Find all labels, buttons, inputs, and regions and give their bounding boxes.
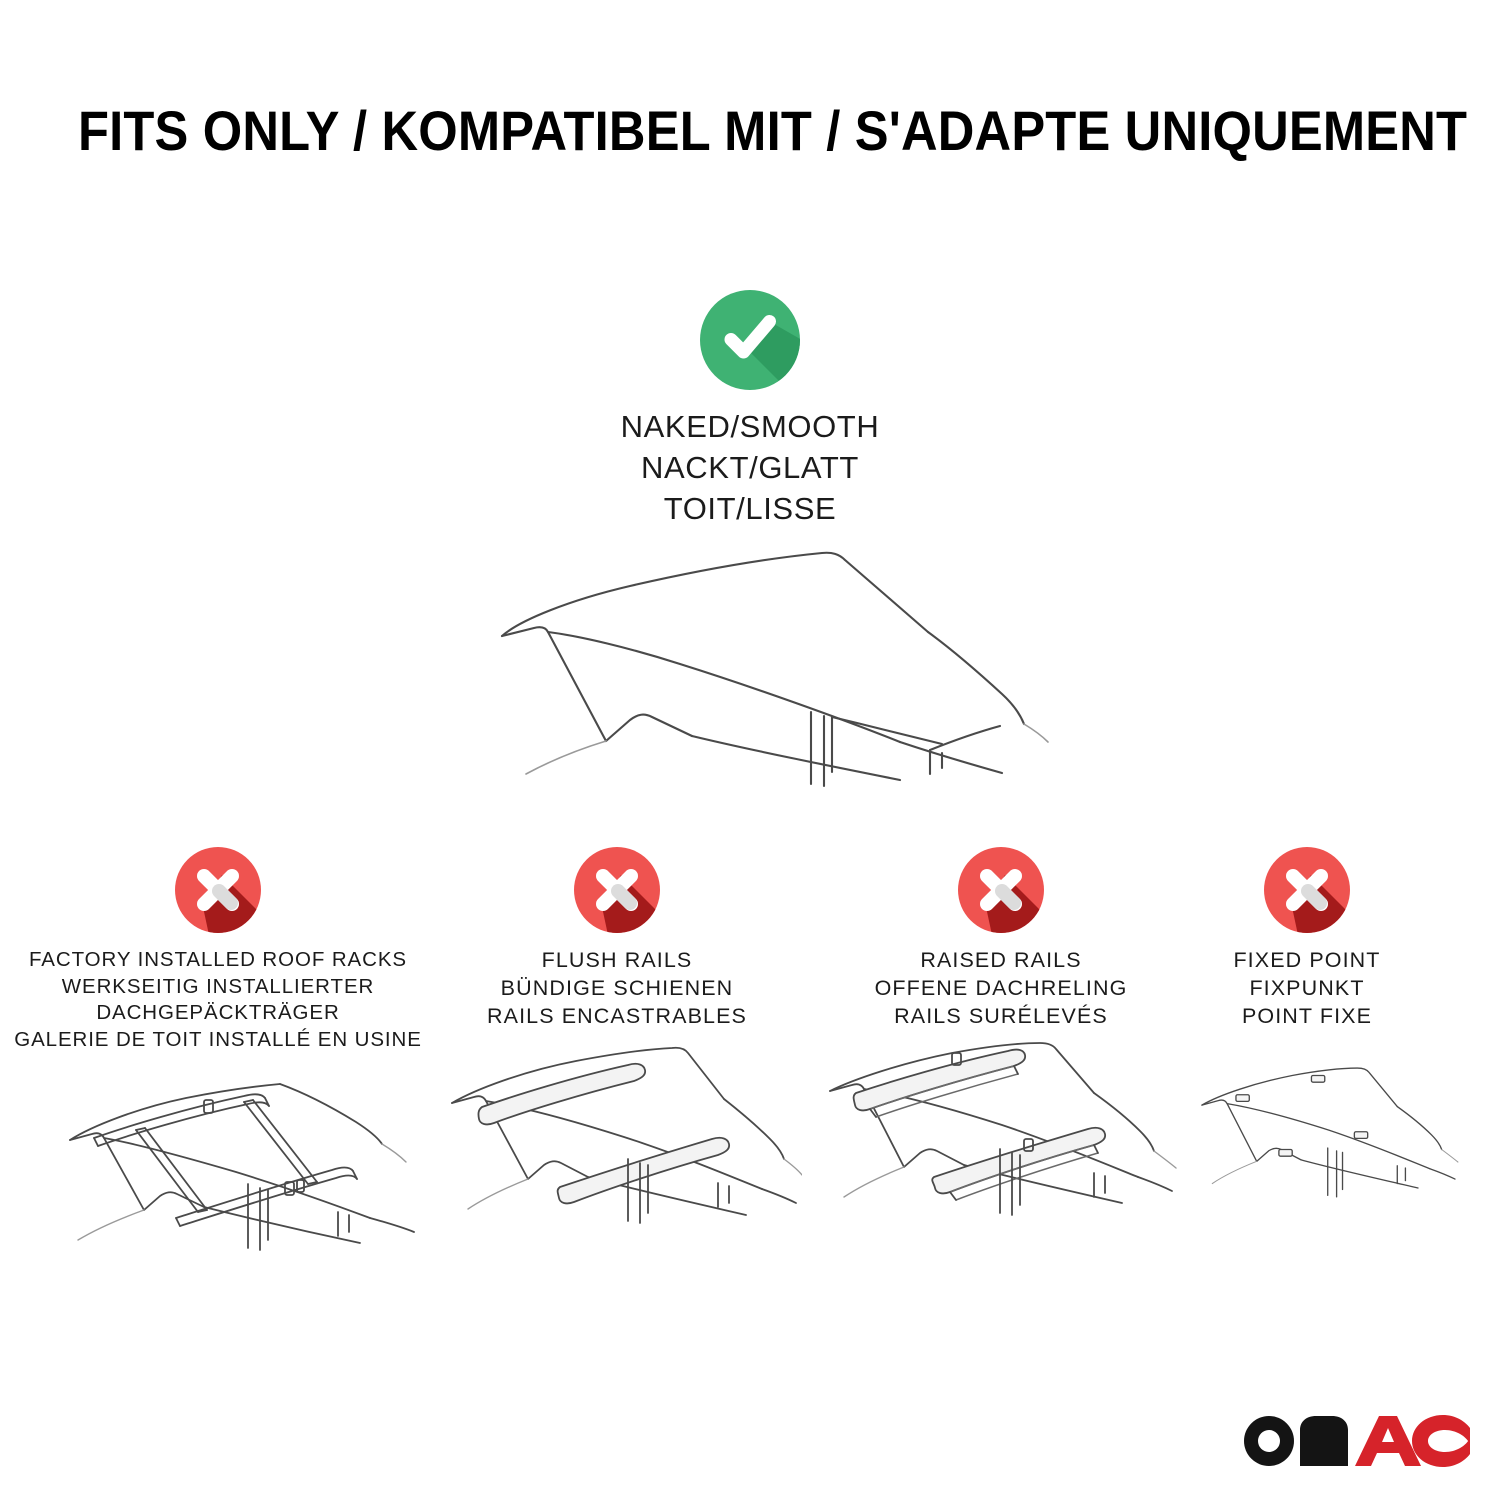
compatible-label-en: NAKED/SMOOTH [430, 406, 1070, 447]
red-x-circle-icon [956, 845, 1046, 935]
incompatible-labels: FIXED POINT FIXPUNKT POINT FIXE [1196, 947, 1418, 1031]
compatible-label-de: NACKT/GLATT [430, 447, 1070, 488]
label-en: FIXED POINT [1196, 947, 1418, 975]
compatible-roof-labels: NAKED/SMOOTH NACKT/GLATT TOIT/LISSE [430, 406, 1070, 530]
incompatible-item-raised-rails: RAISED RAILS OFFENE DACHRELING RAILS SUR… [812, 845, 1190, 1242]
naked-smooth-roof-illustration [430, 536, 1070, 801]
factory-installed-roof-racks-illustration [8, 1060, 428, 1265]
green-check-circle-icon [698, 288, 802, 392]
label-fr: POINT FIXE [1196, 1003, 1418, 1031]
label-en: FACTORY INSTALLED ROOF RACKS [8, 947, 428, 974]
incompatible-item-flush-rails: FLUSH RAILS BÜNDIGE SCHIENEN RAILS ENCAS… [432, 845, 802, 1242]
incompatible-item-factory-roof-racks: FACTORY INSTALLED ROOF RACKS WERKSEITIG … [8, 845, 428, 1265]
flush-rails-illustration [432, 1037, 802, 1242]
omac-logo [1238, 1408, 1470, 1470]
raised-rails-illustration [812, 1037, 1190, 1242]
page-title: FITS ONLY / KOMPATIBEL MIT / S'ADAPTE UN… [78, 103, 1300, 159]
label-de-1: BÜNDIGE SCHIENEN [432, 975, 802, 1003]
compatible-label-fr: TOIT/LISSE [430, 488, 1070, 529]
label-en: FLUSH RAILS [432, 947, 802, 975]
red-x-circle-icon [173, 845, 263, 935]
label-de-1: WERKSEITIG INSTALLIERTER [8, 974, 428, 1001]
label-de-2: DACHGEPÄCKTRÄGER [8, 1000, 428, 1027]
label-fr: RAILS SURÉLEVÉS [812, 1003, 1190, 1031]
fixed-point-illustration [1196, 1037, 1418, 1242]
incompatible-item-fixed-point: FIXED POINT FIXPUNKT POINT FIXE [1196, 845, 1418, 1242]
label-fr: GALERIE DE TOIT INSTALLÉ EN USINE [8, 1027, 428, 1054]
label-de-1: OFFENE DACHRELING [812, 975, 1190, 1003]
label-fr: RAILS ENCASTRABLES [432, 1003, 802, 1031]
label-en: RAISED RAILS [812, 947, 1190, 975]
red-x-circle-icon [1262, 845, 1352, 935]
incompatible-roof-types-grid: FACTORY INSTALLED ROOF RACKS WERKSEITIG … [0, 845, 1500, 1275]
incompatible-labels: RAISED RAILS OFFENE DACHRELING RAILS SUR… [812, 947, 1190, 1031]
label-de-1: FIXPUNKT [1196, 975, 1418, 1003]
red-x-circle-icon [572, 845, 662, 935]
incompatible-labels: FLUSH RAILS BÜNDIGE SCHIENEN RAILS ENCAS… [432, 947, 802, 1031]
compatible-roof-section: NAKED/SMOOTH NACKT/GLATT TOIT/LISSE [430, 288, 1070, 801]
incompatible-labels: FACTORY INSTALLED ROOF RACKS WERKSEITIG … [8, 947, 428, 1054]
